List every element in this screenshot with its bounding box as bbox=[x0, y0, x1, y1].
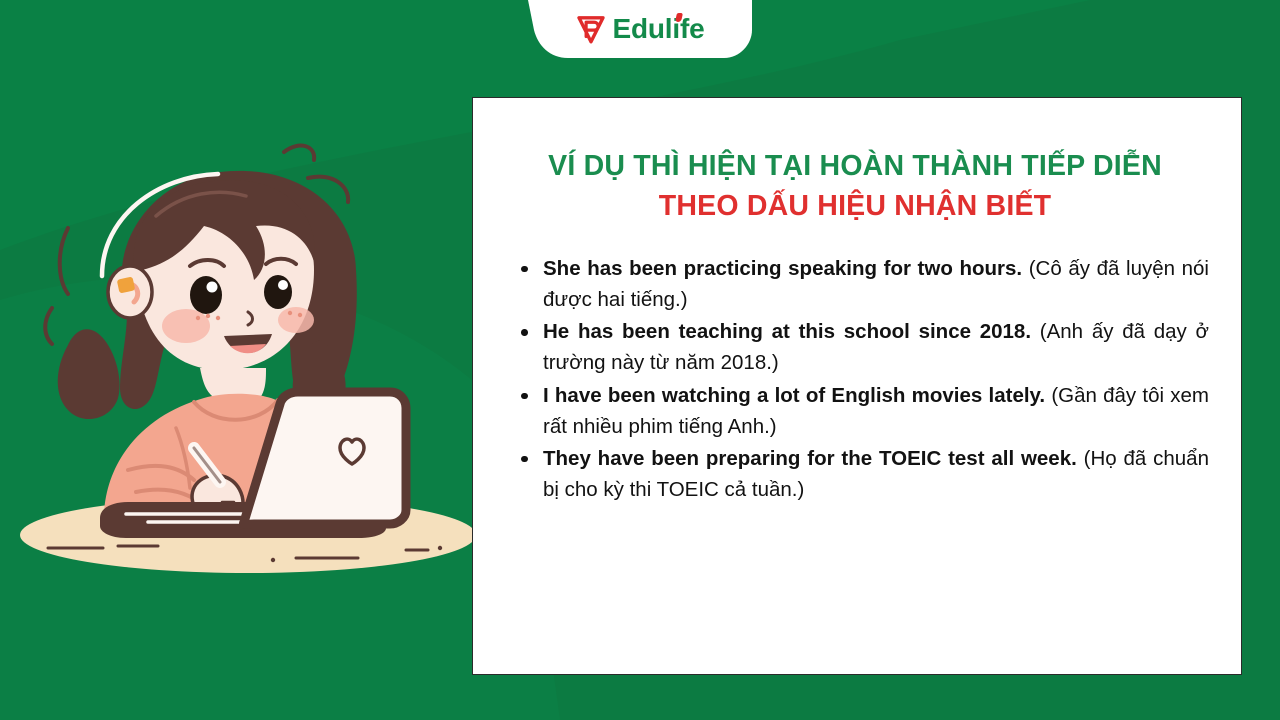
brand-logo-tab[interactable]: Edulife bbox=[528, 0, 752, 62]
list-item: They have been preparing for the TOEIC t… bbox=[543, 443, 1211, 505]
example-english: They have been preparing for the TOEIC t… bbox=[543, 447, 1077, 470]
example-english: I have been watching a lot of English mo… bbox=[543, 384, 1045, 407]
list-item: He has been teaching at this school sinc… bbox=[543, 316, 1211, 378]
brand-name-label: Edulife bbox=[613, 13, 705, 44]
girl-studying-with-laptop-graphic bbox=[8, 130, 478, 580]
list-item: She has been practicing speaking for two… bbox=[543, 253, 1211, 315]
brand-name-text: Edulife bbox=[613, 15, 705, 43]
edulife-triangle-logo-icon bbox=[576, 14, 606, 44]
examples-list: She has been practicing speaking for two… bbox=[499, 253, 1211, 505]
girl-studying-illustration bbox=[8, 130, 478, 580]
page-subtitle: THEO DẤU HIỆU NHẬN BIẾT bbox=[499, 186, 1211, 226]
list-item: I have been watching a lot of English mo… bbox=[543, 380, 1211, 442]
example-english: He has been teaching at this school sinc… bbox=[543, 320, 1031, 343]
content-card: VÍ DỤ THÌ HIỆN TẠI HOÀN THÀNH TIẾP DIỄN … bbox=[472, 97, 1242, 675]
page-title: VÍ DỤ THÌ HIỆN TẠI HOÀN THÀNH TIẾP DIỄN bbox=[499, 146, 1211, 186]
slide-canvas: Edulife bbox=[0, 0, 1280, 720]
example-english: She has been practicing speaking for two… bbox=[543, 257, 1022, 280]
